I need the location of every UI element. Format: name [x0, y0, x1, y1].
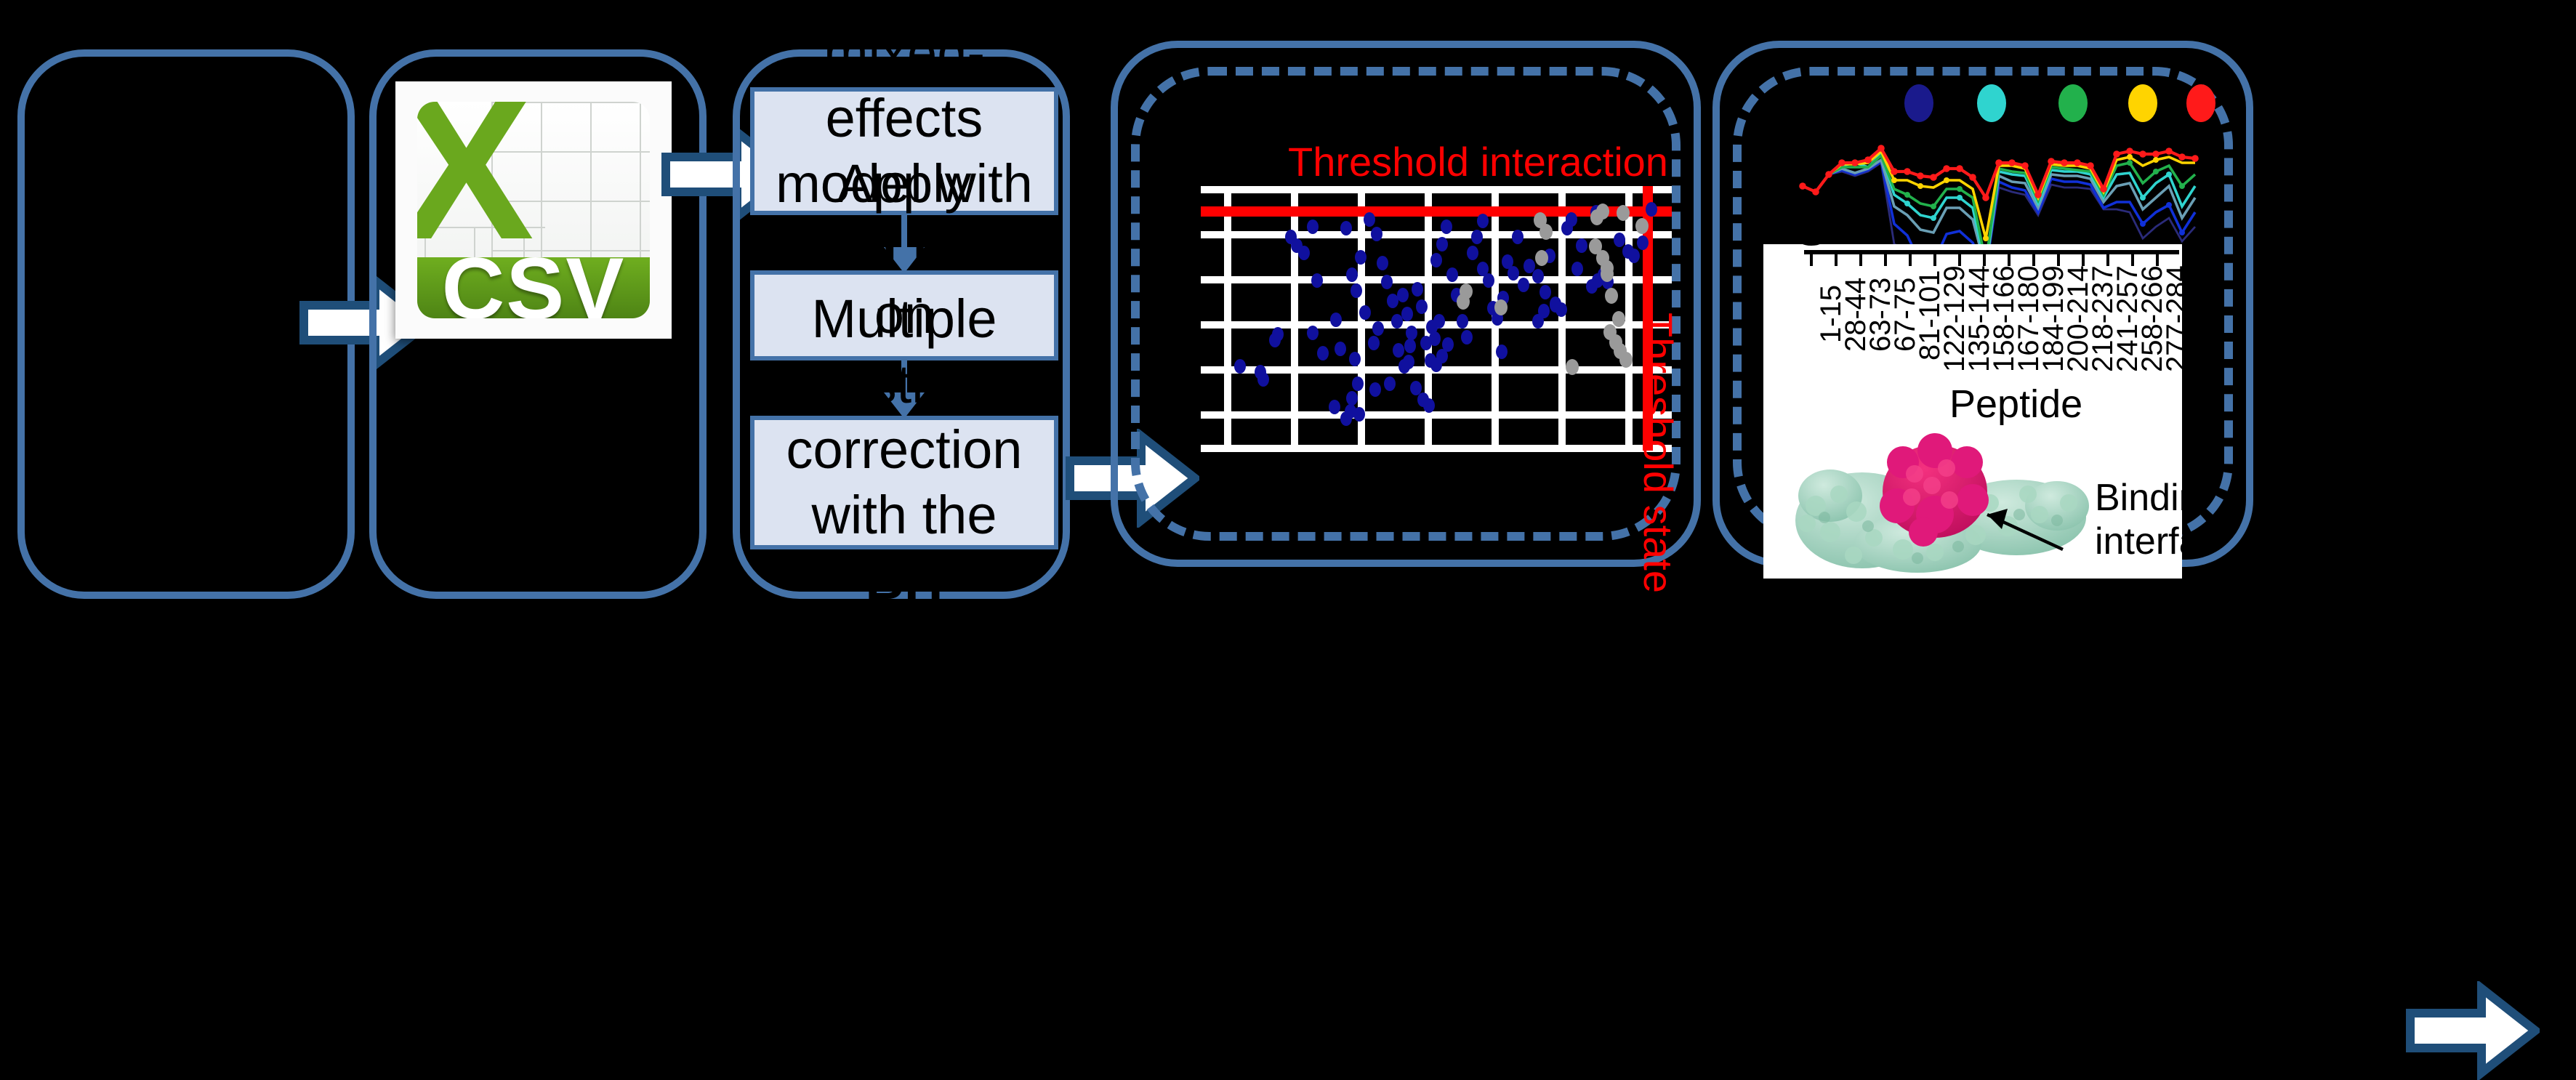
data-point: [1566, 212, 1577, 227]
x-axis-title: Peptide: [1949, 382, 2082, 427]
mt-line3-pre: with the: [811, 485, 997, 545]
data-point: [1646, 202, 1657, 217]
data-point: [1346, 267, 1358, 282]
data-point: [1393, 343, 1404, 358]
wald-line1-pre: Apply: [837, 154, 971, 214]
data-point: [1441, 219, 1452, 234]
data-point-ns: [1635, 218, 1649, 234]
csv-format-band: CSV: [417, 257, 649, 318]
data-point: [1512, 230, 1524, 244]
protein-structure-image: [1772, 430, 2136, 576]
x-axis-tick-10: [2057, 254, 2060, 266]
data-point: [1401, 307, 1413, 321]
data-point: [1330, 313, 1342, 327]
x-axis-tick-0: [1810, 254, 1813, 266]
data-point: [1368, 336, 1380, 350]
data-point: [1359, 305, 1371, 320]
data-point-ns: [1566, 359, 1579, 375]
binding-label-line2: interface: [2095, 520, 2182, 564]
data-point: [1412, 282, 1423, 297]
data-point-ns: [1619, 352, 1633, 368]
data-point: [1364, 212, 1375, 227]
data-point: [1433, 314, 1445, 329]
data-point: [1353, 407, 1365, 422]
x-axis-tick-14: [2156, 254, 2159, 266]
legend-dot-red: [2186, 84, 2215, 122]
data-point: [1351, 283, 1362, 298]
data-point: [1416, 299, 1428, 314]
data-point: [1406, 326, 1417, 340]
data-point: [1340, 221, 1352, 235]
wald-tests-bold: Wald tests: [770, 220, 1037, 280]
data-point: [1576, 238, 1587, 253]
data-point-ns: [1494, 299, 1508, 315]
threshold-state-label: Threshold state: [1634, 313, 1681, 593]
x-axis-tick-12: [2106, 254, 2109, 266]
data-point: [1349, 352, 1361, 366]
data-point: [1430, 253, 1442, 267]
data-point: [1346, 391, 1358, 406]
x-axis-tick-1: [1835, 254, 1838, 266]
data-point: [1355, 250, 1367, 265]
data-point-ns: [1539, 224, 1553, 240]
data-point-ns: [1590, 209, 1603, 225]
x-axis-tick-5: [1933, 254, 1936, 266]
legend-dot-yellow: [2128, 84, 2157, 122]
x-axis-tick-2: [1859, 254, 1862, 266]
data-point-ns: [1457, 294, 1470, 310]
excel-x-glyph: X: [420, 106, 513, 231]
data-point-ns: [1612, 311, 1625, 327]
step-multiple-testing: Multiple testing correction with the BH …: [750, 416, 1058, 549]
protein-svg: [1772, 430, 2136, 576]
arrow-scatter-to-results: [2406, 981, 2540, 1080]
data-point-ns: [1535, 250, 1548, 266]
data-point-ns: [1605, 288, 1618, 304]
data-point: [1272, 327, 1284, 342]
data-point: [1442, 337, 1454, 352]
data-point: [1628, 249, 1640, 263]
threshold-interaction-label: Threshold interaction: [1288, 140, 1668, 186]
mt-line2: correction: [786, 420, 1023, 480]
grid-h-0: [1201, 186, 1672, 193]
data-point: [1457, 314, 1468, 329]
data-point: [1467, 246, 1478, 260]
data-point: [1637, 235, 1649, 250]
x-axis-tick-4: [1909, 254, 1912, 266]
data-point: [1471, 230, 1483, 244]
data-point: [1483, 273, 1494, 288]
x-axis-tick-11: [2082, 254, 2085, 266]
data-point: [1352, 376, 1364, 391]
data-point: [1614, 233, 1625, 247]
legend-dot-navy: [1904, 84, 1933, 122]
flowchart-canvas: X CSV Fit a linear mixed- effects model …: [0, 0, 2576, 687]
peptide-axis-protein-card: 1-15 28-44 63-73 67-75 81-101 122-129 13…: [1763, 244, 2182, 579]
data-point: [1550, 298, 1561, 313]
csv-format-label: CSV: [442, 238, 626, 318]
data-point: [1307, 219, 1319, 234]
data-point: [1461, 330, 1473, 344]
data-point: [1369, 382, 1381, 397]
data-point: [1384, 376, 1396, 391]
data-point: [1423, 398, 1435, 413]
data-point: [1381, 275, 1393, 289]
data-point: [1234, 359, 1246, 374]
data-point: [1257, 372, 1269, 387]
data-point: [1539, 285, 1551, 299]
x-axis-tick-3: [1884, 254, 1887, 266]
grid-h-5: [1201, 411, 1672, 419]
data-point: [1477, 214, 1489, 228]
data-point: [1371, 227, 1382, 241]
data-point: [1436, 237, 1448, 251]
data-point: [1404, 339, 1416, 353]
data-point: [1377, 256, 1388, 270]
data-point: [1329, 400, 1340, 414]
mt-line3-post: procedure: [783, 617, 1025, 677]
data-point: [1403, 355, 1414, 369]
data-point-ns: [1601, 260, 1614, 276]
legend-dot-green: [2058, 84, 2088, 122]
data-point: [1311, 273, 1323, 288]
csv-file-icon: X CSV: [395, 81, 672, 339]
peptide-tick-label: 277-284: [2162, 265, 2182, 372]
csv-icon-body: X CSV: [417, 102, 649, 318]
data-point: [1508, 266, 1519, 281]
data-point: [1317, 346, 1329, 360]
data-point: [1410, 381, 1422, 395]
data-point: [1397, 288, 1409, 302]
data-point: [1335, 342, 1346, 356]
data-point: [1571, 262, 1583, 276]
data-point: [1518, 278, 1529, 292]
data-point: [1532, 269, 1544, 283]
x-axis-tick-9: [2032, 254, 2035, 266]
data-point: [1372, 321, 1384, 336]
data-point: [1429, 331, 1441, 346]
mt-bh-bold: BH: [866, 551, 943, 610]
binding-label-line1: Binding: [2095, 477, 2182, 520]
x-axis-tick-13: [2131, 254, 2134, 266]
x-axis-tick-8: [2008, 254, 2011, 266]
scatter-plot: [1201, 186, 1672, 451]
x-axis-tick-6: [1958, 254, 1961, 266]
data-point: [1298, 246, 1310, 260]
binding-interface-label: Binding interface: [2095, 477, 2182, 564]
x-axis-tick-7: [1983, 254, 1986, 266]
chart-legend: [1791, 84, 2227, 125]
data-point-ns: [1617, 205, 1630, 221]
grid-h-6: [1201, 445, 1672, 452]
data-point: [1496, 344, 1508, 359]
y-axis-zero-label: 0.0: [1790, 244, 1835, 247]
data-point: [1446, 267, 1458, 282]
data-point: [1538, 304, 1550, 318]
fit-model-line1: Fit a linear mixed-: [778, 0, 1029, 83]
grid-h-1: [1201, 231, 1672, 238]
data-point: [1307, 326, 1319, 340]
mt-line1: Multiple testing: [812, 289, 997, 414]
legend-dot-cyan: [1977, 84, 2006, 122]
